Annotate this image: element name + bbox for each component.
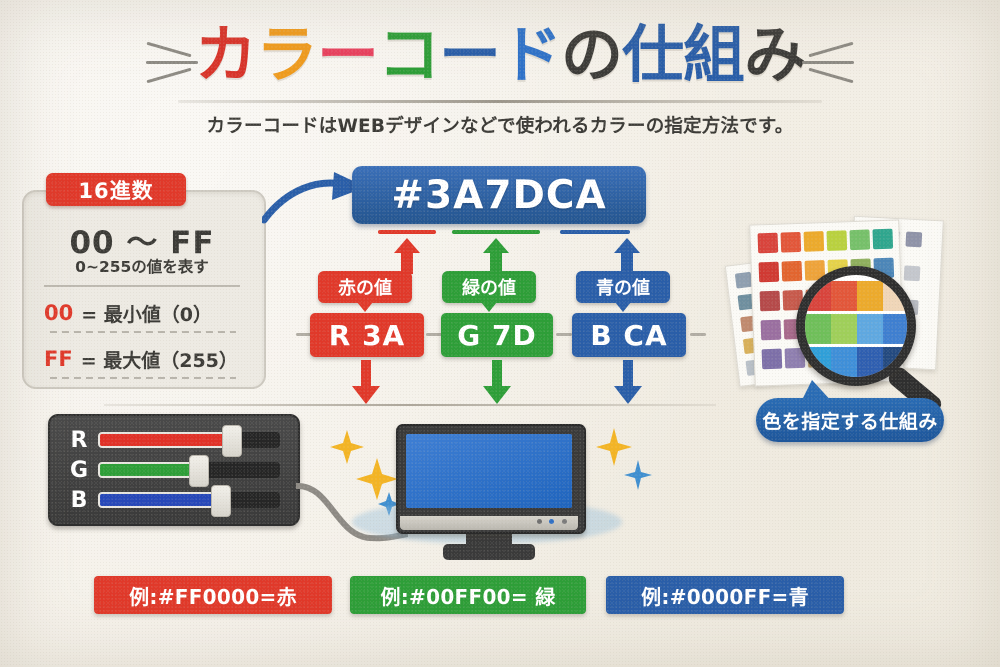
subtitle: カラーコードはWEBデザインなどで使われるカラーの指定方法です。 — [0, 112, 1000, 138]
palette-swatch — [804, 231, 825, 252]
infographic-canvas: カラーコードの仕組み カラーコードはWEBデザインなどで使われるカラーの指定方法… — [0, 0, 1000, 667]
chip-connector-4 — [690, 333, 706, 336]
color-palette-illustration — [730, 210, 980, 400]
slider-knob-b[interactable] — [211, 485, 231, 517]
callout-green-value: 緑の値 — [442, 271, 536, 303]
monitor-screen — [406, 434, 572, 508]
chip-connector-3 — [556, 333, 572, 336]
hex-underline-blue — [560, 230, 630, 234]
palette-swatch — [761, 320, 782, 341]
palette-swatch — [759, 262, 780, 283]
magnified-swatch — [857, 281, 883, 311]
chip-connector-2 — [426, 333, 442, 336]
slider-label-g: G — [66, 458, 92, 483]
example-red: 例:#FF0000=赤 — [94, 576, 332, 614]
example-green: 例:#00FF00= 緑 — [350, 576, 586, 614]
monitor-led-2 — [549, 519, 554, 524]
rgb-slider-device: R G B — [48, 414, 300, 526]
magnifier-glass — [796, 266, 916, 386]
hex-max-text: = 最大値（255） — [81, 346, 238, 373]
title-char-5: ド — [500, 24, 561, 86]
palette-swatch — [849, 229, 870, 250]
palette-swatch — [735, 272, 753, 289]
monitor-led-1 — [537, 519, 542, 524]
chip-blue: B CA — [572, 313, 686, 357]
slider-knob-g[interactable] — [189, 455, 209, 487]
title-divider — [178, 100, 822, 103]
monitor-base — [443, 544, 535, 560]
title-char-6: の — [561, 24, 622, 86]
monitor — [396, 424, 586, 534]
slider-track-b[interactable] — [98, 492, 280, 508]
up-arrow-red-icon — [394, 238, 420, 274]
title-char-2: ー — [317, 24, 378, 86]
palette-swatch — [872, 229, 893, 250]
title-right-accent-lines — [796, 46, 854, 80]
chip-red: R 3A — [310, 313, 424, 357]
hex-panel-divider — [44, 285, 240, 287]
down-arrow-red-icon — [352, 360, 380, 404]
magnified-swatch — [831, 281, 857, 311]
palette-swatch — [781, 232, 802, 253]
slider-fill-g — [98, 462, 196, 478]
title-char-0: カ — [195, 24, 256, 86]
magnified-swatch — [883, 281, 909, 311]
title-char-3: コ — [378, 24, 439, 86]
title-char-7: 仕 — [622, 24, 683, 86]
magnifier-icon — [796, 266, 916, 386]
magnified-swatch — [805, 347, 831, 377]
hex-row-max-underline — [50, 377, 236, 379]
palette-swatch — [758, 233, 779, 254]
hex-code-box[interactable]: #3A7DCA — [352, 166, 646, 224]
palette-swatch — [762, 349, 783, 370]
palette-swatch — [826, 230, 847, 251]
slider-track-r[interactable] — [98, 432, 280, 448]
title-characters: カラーコードの仕組み — [195, 24, 805, 86]
slider-fill-r — [98, 432, 229, 448]
title-char-4: ー — [439, 24, 500, 86]
chip-green: G 7D — [441, 313, 553, 357]
magnified-swatch — [831, 314, 857, 344]
magnified-swatch — [831, 347, 857, 377]
slider-fill-b — [98, 492, 218, 508]
callout-blue-value: 青の値 — [576, 271, 670, 303]
monitor-bezel — [400, 516, 578, 530]
hex-code-value: #3A7DCA — [391, 173, 606, 218]
section-divider — [104, 404, 716, 406]
slider-track-g[interactable] — [98, 462, 280, 478]
palette-swatch — [905, 232, 922, 248]
slider-label-b: B — [66, 488, 92, 513]
monitor-led-3 — [562, 519, 567, 524]
palette-swatch — [760, 291, 781, 312]
magnified-swatch — [857, 347, 883, 377]
slider-knob-r[interactable] — [222, 425, 242, 457]
up-arrow-blue-icon — [614, 238, 640, 274]
hex-underline-red — [378, 230, 436, 234]
magnified-swatch — [857, 314, 883, 344]
title-char-1: ラ — [256, 24, 317, 86]
hex-min-text: = 最小値（0） — [81, 300, 212, 327]
title-char-8: 組 — [683, 24, 744, 86]
slider-label-r: R — [66, 428, 92, 453]
title-left-accent-lines — [146, 46, 204, 80]
hex-row-min-underline — [50, 331, 236, 333]
magnified-swatch — [883, 347, 909, 377]
hex-badge: 16進数 — [46, 173, 186, 206]
hex-range-note: 0~255の値を表す — [22, 255, 262, 277]
magnified-swatch — [883, 314, 909, 344]
down-arrow-blue-icon — [614, 360, 642, 404]
up-arrow-green-icon — [483, 238, 509, 274]
hex-row-min: 00 = 最小値（0） — [44, 298, 242, 328]
example-blue: 例:#0000FF=青 — [606, 576, 844, 614]
hex-min-key: 00 — [44, 301, 73, 325]
hex-underline-green — [452, 230, 540, 234]
magnified-swatch — [805, 281, 831, 311]
hex-row-max: FF = 最大値（255） — [44, 344, 242, 374]
magnified-swatch — [805, 314, 831, 344]
hex-max-key: FF — [44, 347, 73, 371]
callout-red-value: 赤の値 — [318, 271, 412, 303]
sparkle-icon — [624, 460, 652, 490]
down-arrow-green-icon — [483, 360, 511, 404]
palette-caption-pill: 色を指定する仕組み — [756, 398, 944, 442]
